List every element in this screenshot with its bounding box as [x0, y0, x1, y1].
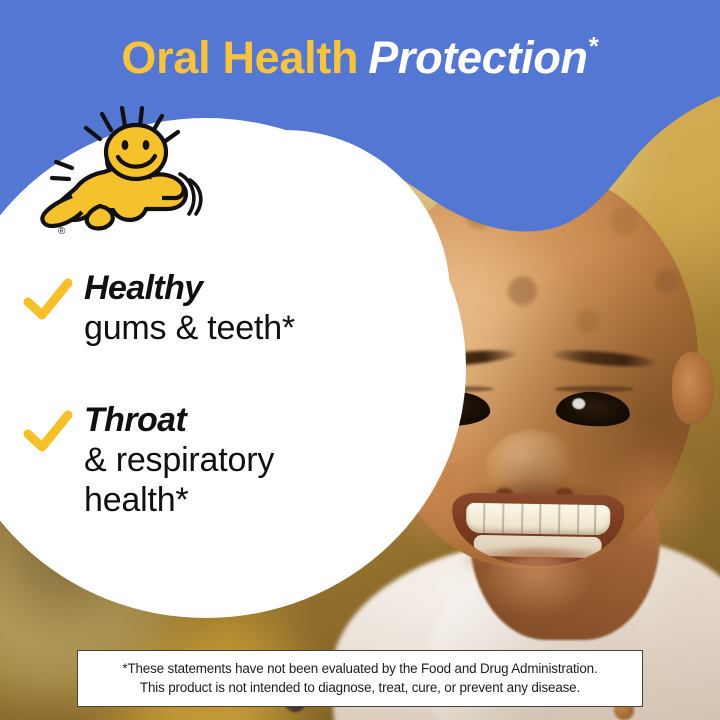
page-title: Oral HealthProtection*: [0, 33, 720, 81]
benefit-text-oral: Healthy gums & teeth*: [84, 268, 295, 348]
child-chin: [478, 556, 594, 618]
benefit-text-respiratory: Throat & respiratory health*: [84, 400, 274, 520]
registered-trademark-mark: ®: [58, 226, 65, 237]
check-icon: [20, 272, 76, 328]
headline-asterisk: *: [589, 31, 599, 61]
fda-disclaimer: *These statements have not been evaluate…: [77, 650, 643, 707]
benefit-rest-line1: & respiratory: [84, 440, 274, 480]
disclaimer-line-1: *These statements have not been evaluate…: [84, 659, 636, 678]
crawling-baby-mascot-icon: [26, 102, 226, 242]
promo-image: Oral HealthProtection*: [0, 0, 720, 720]
disclaimer-line-2: This product is not intended to diagnose…: [84, 678, 636, 697]
child-ear: [672, 352, 714, 424]
check-icon: [20, 404, 76, 460]
benefit-lead: Throat: [84, 400, 274, 440]
benefit-rest-line2: health*: [84, 480, 274, 520]
headline-primary: Oral Health: [121, 32, 358, 83]
headline-secondary: Protection: [368, 32, 588, 83]
benefit-lead: Healthy: [84, 268, 295, 308]
benefit-item-oral: Healthy gums & teeth*: [20, 268, 295, 348]
benefit-rest: gums & teeth*: [84, 308, 295, 348]
child-upper-teeth: [466, 503, 611, 536]
benefit-item-respiratory: Throat & respiratory health*: [20, 400, 274, 520]
